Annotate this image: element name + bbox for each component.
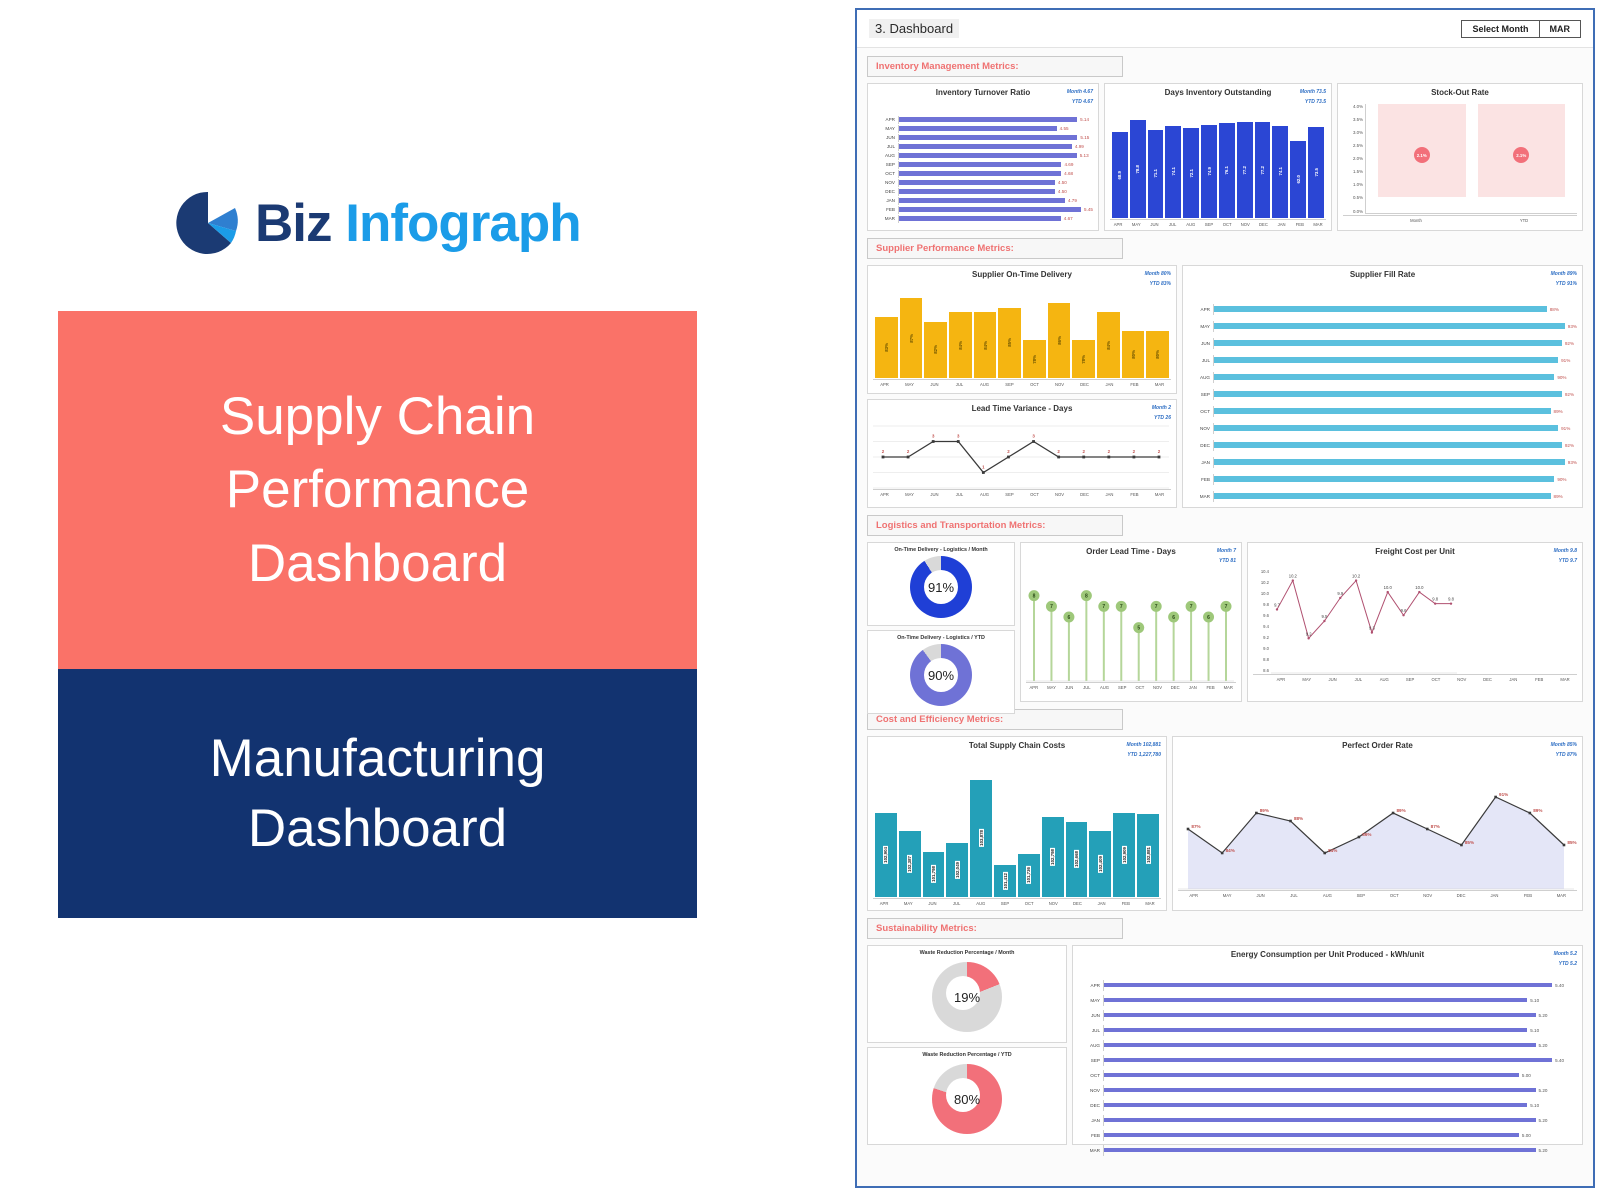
svg-text:10.2: 10.2 (1352, 573, 1361, 578)
svg-text:2: 2 (1007, 449, 1010, 454)
kpi-month: Month 4.67 (1067, 88, 1093, 98)
dashboard-panel: 3. Dashboard Select Month MAR Inventory … (855, 8, 1595, 1188)
x-tick-label: MAR (1553, 677, 1577, 682)
x-tick-label: NOV (1042, 901, 1064, 906)
bar-value-label: 5.10 (1530, 998, 1539, 1003)
bar (1104, 1118, 1536, 1123)
x-tick-label: SEP (998, 382, 1021, 387)
gauge-value: 90% (910, 644, 972, 706)
chart-days-inventory-outstanding: Days Inventory Outstanding Month 73.5 YT… (1104, 83, 1332, 231)
bar-column: 82% (924, 294, 947, 378)
chart-kpi: Month 9.8 YTD 9.7 (1554, 547, 1577, 566)
bar-value-label: 102,668 (1074, 850, 1079, 868)
x-tick-label: MAY (898, 382, 921, 387)
kpi-month: Month 5.2 (1554, 950, 1577, 960)
bar: 102,668 (1066, 822, 1088, 897)
svg-text:9.5: 9.5 (1322, 614, 1328, 619)
bar-row: OCT89% (1188, 406, 1577, 417)
x-tick-label: JUN (923, 492, 946, 497)
svg-text:89%: 89% (1396, 808, 1405, 813)
bar-category-label: AUG (873, 153, 898, 158)
x-tick-label: MAY (1295, 677, 1319, 682)
bar-column: 68.9 (1112, 114, 1128, 218)
svg-text:6: 6 (1068, 614, 1071, 620)
bar-value-label: 5.13 (1080, 153, 1089, 158)
bar: 71.1 (1148, 130, 1164, 218)
bar-column: 80% (1122, 294, 1145, 378)
bar-category-label: JUL (1188, 358, 1213, 363)
x-tick-label: APR (1269, 677, 1293, 682)
bar-column: 83% (875, 294, 898, 378)
bars-container: 83%87%82%84%84%85%78%86%78%84%80%80% (873, 294, 1171, 378)
bars-container: 68.978.871.174.172.174.976.177.277.274.1… (1110, 114, 1326, 218)
x-tick-label: SEP (994, 901, 1016, 906)
bar: 77.2 (1237, 122, 1253, 218)
x-tick-label: JAN (1091, 901, 1113, 906)
bar-category-label: FEB (873, 207, 898, 212)
bar-column: 78.8 (1130, 114, 1146, 218)
x-tick-label: Month (1363, 218, 1469, 223)
x-tick-label: NOV (1412, 893, 1443, 898)
bar-value-label: 5.40 (1555, 983, 1564, 988)
bar (1214, 340, 1562, 346)
bar (1214, 408, 1551, 414)
svg-text:2: 2 (907, 449, 910, 454)
bar-column: 101,412 (994, 769, 1016, 897)
bar-column: 2.1% (1378, 104, 1466, 213)
bar-row: DEC5.10 (1078, 1100, 1577, 1111)
chart-title: Waste Reduction Percentage / Month (873, 950, 1061, 956)
x-tick-label: DEC (1476, 677, 1500, 682)
bar-row: JUN5.15 (873, 134, 1093, 142)
kpi-month: Month 9.8 (1554, 547, 1577, 557)
bar-row: OCT4.68 (873, 170, 1093, 178)
bar-category-label: JUN (1078, 1013, 1103, 1018)
chart-kpi: Month 7 YTD 81 (1217, 547, 1236, 566)
bar-column: 87% (900, 294, 923, 378)
bar-value-label: 101,412 (1003, 872, 1008, 890)
chart-title: Supplier Fill Rate (1188, 270, 1577, 280)
bar-value-label: 83% (884, 343, 889, 352)
bar-row: FEB5.00 (1078, 1130, 1577, 1141)
bar-value-label: 84% (1106, 341, 1111, 350)
bar-value-label: 4.50 (1058, 180, 1067, 185)
bar-category-label: SEP (1078, 1058, 1103, 1063)
bar (899, 135, 1077, 140)
bars-container: 102,904102,387101,798102,049103,878101,4… (873, 769, 1161, 897)
chart-kpi: Month 85% YTD 87% (1551, 741, 1577, 760)
x-tick-label: DEC (1066, 901, 1088, 906)
bar: 102,798 (1042, 817, 1064, 896)
x-tick-label: NOV (1048, 382, 1071, 387)
bar-column: 84% (974, 294, 997, 378)
bar-column: 2.1% (1478, 104, 1566, 213)
x-tick-label: JUN (921, 901, 943, 906)
svg-text:9.8: 9.8 (1448, 596, 1454, 601)
bar-value-label: 73.5 (1314, 168, 1319, 177)
bar: 73.5 (1308, 127, 1324, 218)
bar: 103,878 (970, 780, 992, 897)
bar-column: 102,798 (1042, 769, 1064, 897)
bar (899, 162, 1061, 167)
x-tick-label: APR (1026, 685, 1042, 690)
bar: 77.2 (1255, 122, 1271, 218)
bar-row: APR88% (1188, 304, 1577, 315)
bar-column: 74.1 (1165, 114, 1181, 218)
bar-row: NOV91% (1188, 423, 1577, 434)
kpi-ytd: YTD 1,227,780 (1127, 751, 1161, 761)
bar-value-label: 93% (1568, 324, 1577, 329)
cover-panel: Biz Infograph Supply Chain Performance D… (0, 0, 800, 1200)
gauge-on-time-delivery-month: On-Time Delivery - Logistics / Month 91% (867, 542, 1015, 626)
kpi-ytd: YTD 91% (1551, 280, 1577, 290)
chart-title: Waste Reduction Percentage / YTD (873, 1052, 1061, 1058)
bar-column: 74.9 (1201, 114, 1217, 218)
x-tick-label: DEC (1445, 893, 1476, 898)
bar-column: 73.5 (1308, 114, 1324, 218)
bar: 84% (1097, 312, 1120, 377)
y-tick-label: 0.0% (1343, 209, 1363, 214)
bar-value-label: 84% (958, 341, 963, 350)
bar (899, 153, 1077, 158)
chart-stock-out-rate: Stock-Out Rate 4.0%3.5%3.0%2.5%2.0%1.5%1… (1337, 83, 1583, 231)
bar: 102,881 (1137, 814, 1159, 896)
donut-gauge: 19% (932, 962, 1002, 1032)
bar-category-label: DEC (873, 189, 898, 194)
bar-value-label: 89% (1554, 409, 1563, 414)
line-plot: 9.710.29.29.59.910.29.310.09.610.09.89.8 (1271, 569, 1457, 673)
bar-category-label: OCT (1188, 409, 1213, 414)
bar-row: NOV5.20 (1078, 1085, 1577, 1096)
bar-value-label: 92% (1565, 392, 1574, 397)
logo-wordmark: Biz Infograph (255, 197, 581, 250)
x-tick-label: SEP (998, 492, 1021, 497)
svg-text:3: 3 (1032, 433, 1035, 438)
kpi-month: Month 102,881 (1127, 741, 1161, 751)
chart-title: On-Time Delivery - Logistics / Month (873, 547, 1009, 553)
x-tick-label: MAY (1211, 893, 1242, 898)
x-axis-labels: MonthYTD (1343, 215, 1577, 223)
bar-value-label: 4.68 (1064, 171, 1073, 176)
x-tick-label: MAR (1148, 492, 1171, 497)
gauge-on-time-delivery-ytd: On-Time Delivery - Logistics / YTD 90% (867, 630, 1015, 714)
bar-column: 84% (949, 294, 972, 378)
y-tick-label: 2.0% (1343, 156, 1363, 161)
bar-column: 77.2 (1237, 114, 1253, 218)
bar (1104, 1088, 1536, 1093)
y-tick-label: 9.4 (1253, 624, 1269, 629)
bar-category-label: APR (1188, 307, 1213, 312)
chart-title: Total Supply Chain Costs (873, 741, 1161, 751)
bar: 102,387 (899, 831, 921, 896)
bar-value-label: 5.15 (1080, 135, 1089, 140)
x-tick-label: DEC (1073, 382, 1096, 387)
bar-column: 102,904 (875, 769, 897, 897)
bar-category-label: AUG (1078, 1043, 1103, 1048)
bar-value-label: 5.45 (1084, 207, 1093, 212)
bars-container: 2.1%2.1% (1366, 104, 1577, 213)
selected-month-value[interactable]: MAR (1540, 20, 1582, 38)
bar-column: 71.1 (1148, 114, 1164, 218)
chart-energy-consumption: Energy Consumption per Unit Produced - k… (1072, 945, 1583, 1145)
x-tick-label: OCT (1219, 222, 1235, 227)
x-tick-label: JUL (948, 382, 971, 387)
bar-category-label: NOV (873, 180, 898, 185)
svg-text:84%: 84% (1226, 848, 1235, 853)
bar-value-label: 86% (1057, 336, 1062, 345)
x-tick-label: AUG (973, 382, 996, 387)
chart-title: Order Lead Time - Days (1026, 547, 1236, 557)
svg-text:85%: 85% (1567, 840, 1576, 845)
section-header-supplier: Supplier Performance Metrics: (867, 238, 1123, 259)
x-tick-label: FEB (1527, 677, 1551, 682)
y-tick-label: 10.0 (1253, 591, 1269, 596)
x-tick-label: FEB (1292, 222, 1308, 227)
bar (1214, 442, 1562, 448)
bar: 76.1 (1219, 123, 1235, 217)
bar-value-label: 4.50 (1058, 189, 1067, 194)
kpi-month: Month 89% (1551, 270, 1577, 280)
bar: 86% (1048, 303, 1071, 378)
bar-value-label: 5.10 (1530, 1028, 1539, 1033)
bar: 102,409 (1089, 831, 1111, 897)
bar-value-label: 5.20 (1539, 1118, 1548, 1123)
bar-row: JUL91% (1188, 355, 1577, 366)
x-tick-label: OCT (1132, 685, 1148, 690)
bar: 72.1 (1183, 128, 1199, 217)
svg-text:2: 2 (1108, 449, 1111, 454)
bar-row: JUN92% (1188, 338, 1577, 349)
bar-row: AUG5.13 (873, 152, 1093, 160)
bars-container: APR5.14MAY4.55JUN5.15JUL4.99AUG5.13SEP4.… (873, 116, 1093, 223)
kpi-ytd: YTD 73.5 (1300, 98, 1326, 108)
bar-column: 102,409 (1089, 769, 1111, 897)
svg-text:10.0: 10.0 (1384, 585, 1393, 590)
bar-value-label: 101,798 (931, 865, 936, 883)
bar (1214, 323, 1565, 329)
bar-value-label: 90% (1557, 375, 1566, 380)
bar (1104, 1148, 1536, 1153)
bar-row: NOV4.50 (873, 179, 1093, 187)
bar: 78% (1072, 340, 1095, 377)
bar: 80% (1122, 331, 1145, 378)
bar-value-label: 4.69 (1064, 162, 1073, 167)
bars-container: APR88%MAY93%JUN92%JUL91%AUG90%SEP92%OCT8… (1188, 304, 1577, 502)
chart-title: Supplier On-Time Delivery (873, 270, 1171, 280)
bar: 84% (974, 312, 997, 377)
y-tick-label: 9.6 (1253, 613, 1269, 618)
bar-category-label: FEB (1078, 1133, 1103, 1138)
bar-row: FEB90% (1188, 474, 1577, 485)
x-tick-label: AUG (1183, 222, 1199, 227)
bar-value-label: 102,387 (907, 855, 912, 873)
x-tick-label: FEB (1123, 492, 1146, 497)
chart-title: Stock-Out Rate (1343, 88, 1577, 98)
bar (899, 189, 1055, 194)
bar-category-label: NOV (1188, 426, 1213, 431)
bar (899, 207, 1081, 212)
x-tick-label: OCT (1023, 492, 1046, 497)
svg-text:2: 2 (1057, 449, 1060, 454)
x-tick-label: JAN (1098, 492, 1121, 497)
kpi-ytd: YTD 87% (1551, 751, 1577, 761)
logo-infograph-text: Infograph (345, 194, 580, 253)
bar-value-label: 5.10 (1530, 1103, 1539, 1108)
bar-column: 85% (998, 294, 1021, 378)
bar-category-label: MAR (873, 216, 898, 221)
bar-category-label: JUL (1078, 1028, 1103, 1033)
chart-kpi: Month 73.5 YTD 73.5 (1300, 88, 1326, 107)
bar (899, 216, 1061, 221)
x-tick-label: APR (1110, 222, 1126, 227)
gauge-value: 19% (932, 962, 1002, 1032)
x-tick-label: MAY (898, 492, 921, 497)
svg-text:9.8: 9.8 (1432, 596, 1438, 601)
chart-lead-time-variance: Lead Time Variance - Days Month 2 YTD 26… (867, 399, 1177, 508)
bar (1214, 306, 1547, 312)
svg-text:10.2: 10.2 (1289, 573, 1298, 578)
bar-value-label: 87% (909, 334, 914, 343)
bar-value-label: 82% (933, 345, 938, 354)
bar-column: 84% (1097, 294, 1120, 378)
bar-value-label: 4.55 (1060, 126, 1069, 131)
bar-category-label: NOV (1078, 1088, 1103, 1093)
chart-title: Freight Cost per Unit (1253, 547, 1577, 557)
x-tick-label: JUN (1245, 893, 1276, 898)
bar-category-label: APR (1078, 983, 1103, 988)
logistics-row: On-Time Delivery - Logistics / Month 91%… (867, 542, 1583, 702)
svg-text:87%: 87% (1191, 824, 1200, 829)
y-tick-label: 8.6 (1253, 668, 1269, 673)
bar-row: SEP4.69 (873, 161, 1093, 169)
bar: 74.9 (1201, 125, 1217, 218)
bar-row: APR5.14 (873, 116, 1093, 124)
inventory-row: Inventory Turnover Ratio Month 4.67 YTD … (867, 83, 1583, 231)
x-axis-labels: APRMAYJUNJULAUGSEPOCTNOVDECJANFEBMAR (1110, 219, 1326, 227)
chart-title: On-Time Delivery - Logistics / YTD (873, 635, 1009, 641)
bar (1104, 1133, 1519, 1138)
title-line: Supply Chain (220, 380, 535, 453)
bar-value-label: 78% (1032, 355, 1037, 364)
bar-column: 86% (1048, 294, 1071, 378)
x-axis-labels: APRMAYJUNJULAUGSEPOCTNOVDECJANFEBMAR (1026, 682, 1236, 690)
bar: 78% (1023, 340, 1046, 377)
bar-value-label: 80% (1155, 350, 1160, 359)
bar (1214, 459, 1565, 465)
bar (1104, 1043, 1536, 1048)
svg-text:7: 7 (1102, 604, 1105, 610)
y-tick-label: 9.0 (1253, 646, 1269, 651)
x-tick-label: SEP (1398, 677, 1422, 682)
donut-gauge: 91% (910, 556, 972, 618)
bar-row: JUL4.99 (873, 143, 1093, 151)
x-tick-label: YTD (1471, 218, 1577, 223)
chart-title: Perfect Order Rate (1178, 741, 1577, 751)
x-tick-label: OCT (1023, 382, 1046, 387)
chart-title: Lead Time Variance - Days (873, 404, 1171, 414)
x-axis-labels: APRMAYJUNJULAUGSEPOCTNOVDECJANFEBMAR (873, 379, 1171, 387)
x-tick-label: AUG (1372, 677, 1396, 682)
bar-value-label: 78.8 (1135, 165, 1140, 174)
bar-value-label: 5.00 (1522, 1133, 1531, 1138)
svg-text:9.7: 9.7 (1274, 602, 1280, 607)
bar-value-label: 101,736 (1026, 866, 1031, 884)
kpi-month: Month 73.5 (1300, 88, 1326, 98)
bar: 102,909 (1113, 813, 1135, 896)
bar-category-label: APR (873, 117, 898, 122)
x-tick-label: JUN (1321, 677, 1345, 682)
x-tick-label: OCT (1018, 901, 1040, 906)
bar-category-label: SEP (873, 162, 898, 167)
chart-title: Inventory Turnover Ratio (873, 88, 1093, 98)
svg-text:2: 2 (1083, 449, 1086, 454)
svg-text:9.3: 9.3 (1369, 625, 1375, 630)
x-axis-labels: APRMAYJUNJULAUGSEPOCTNOVDECJANFEBMAR (873, 489, 1171, 497)
bar-category-label: MAR (1078, 1148, 1103, 1153)
bar-column: 101,736 (1018, 769, 1040, 897)
x-tick-label: JUN (923, 382, 946, 387)
value-marker: 2.1% (1513, 147, 1529, 163)
svg-text:85%: 85% (1465, 840, 1474, 845)
bar-value-label: 71.1 (1153, 169, 1158, 178)
x-tick-label: JUL (1278, 893, 1309, 898)
bar-category-label: JAN (873, 198, 898, 203)
svg-text:88%: 88% (1294, 816, 1303, 821)
month-selector[interactable]: Select Month MAR (1461, 20, 1581, 38)
bar-value-label: 78% (1081, 355, 1086, 364)
bar-row: DEC92% (1188, 440, 1577, 451)
pie-chart-icon (175, 190, 241, 256)
bar-row: SEP5.40 (1078, 1055, 1577, 1066)
bar (1214, 425, 1558, 431)
bar-column: 80% (1146, 294, 1169, 378)
bar: 87% (900, 298, 923, 377)
cost-row: Total Supply Chain Costs Month 102,881 Y… (867, 736, 1583, 911)
x-tick-label: APR (873, 492, 896, 497)
bar-value-label: 92% (1565, 341, 1574, 346)
chart-supplier-fill-rate: Supplier Fill Rate Month 89% YTD 91% APR… (1182, 265, 1583, 508)
bar: 102,904 (875, 813, 897, 896)
x-axis-labels: APRMAYJUNJULAUGSEPOCTNOVDECJANFEBMAR (1253, 674, 1577, 682)
kpi-ytd: YTD 83% (1145, 280, 1171, 290)
bar (1214, 357, 1558, 363)
bar-value-label: 62.0 (1296, 175, 1301, 184)
bar-category-label: JUL (873, 144, 898, 149)
x-tick-label: MAY (1044, 685, 1060, 690)
bar-row: JAN4.79 (873, 197, 1093, 205)
select-month-button[interactable]: Select Month (1461, 20, 1539, 38)
bar-category-label: OCT (1078, 1073, 1103, 1078)
x-tick-label: JUL (948, 492, 971, 497)
bar-category-label: FEB (1188, 477, 1213, 482)
y-tick-label: 8.8 (1253, 657, 1269, 662)
x-tick-label: NOV (1450, 677, 1474, 682)
svg-text:3: 3 (957, 433, 960, 438)
x-tick-label: JAN (1479, 893, 1510, 898)
bar-value-label: 5.40 (1555, 1058, 1564, 1063)
svg-text:10.0: 10.0 (1415, 585, 1424, 590)
bar-row: SEP92% (1188, 389, 1577, 400)
bar (899, 180, 1055, 185)
bar (1104, 1013, 1536, 1018)
x-tick-label: FEB (1203, 685, 1219, 690)
bar: 74.1 (1165, 126, 1181, 218)
x-tick-label: OCT (1379, 893, 1410, 898)
bar-value-label: 4.99 (1075, 144, 1084, 149)
line-plot: 223312322222 (873, 426, 1169, 488)
bar-value-label: 77.2 (1260, 166, 1265, 175)
bar: 78.8 (1130, 120, 1146, 218)
